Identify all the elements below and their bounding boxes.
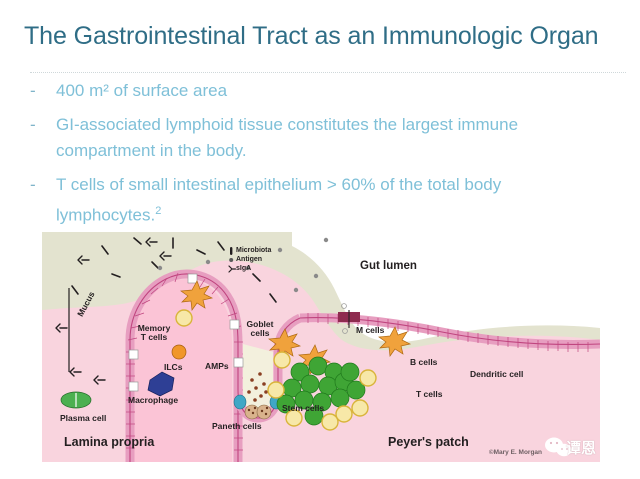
goblet-cell [129, 350, 138, 359]
goblet-cell [129, 382, 138, 391]
label-lamina-propria: Lamina propria [64, 436, 154, 449]
label-goblet-cells-line2: cells [241, 329, 279, 338]
label-macrophage: Macrophage [128, 396, 178, 405]
paneth-cell [257, 405, 271, 419]
antigen-dot-icon [227, 256, 236, 264]
label-dendritic-cell: Dendritic cell [470, 370, 523, 379]
goblet-cell [188, 274, 197, 283]
ilc-cell [172, 345, 186, 359]
plasma-cell-group [61, 392, 91, 408]
label-t-cells: T cells [416, 390, 442, 399]
label-goblet-cells: Goblet cells [241, 320, 279, 338]
label-amps: AMPs [205, 362, 229, 371]
label-peyers-patch: Peyer's patch [388, 436, 469, 449]
legend-item-antigen: Antigen [227, 255, 271, 264]
bullet-marker: - [30, 112, 56, 138]
bullet-marker: - [30, 78, 56, 104]
legend-label: Antigen [236, 256, 262, 263]
bullet-text-main: T cells of small intestinal epithelium >… [56, 175, 501, 225]
label-memory-t-cells-line2: T cells [126, 333, 182, 342]
legend-item-siga: sIgA [227, 264, 271, 273]
legend-label: Microbiota [236, 247, 271, 254]
watermark-text: 谭恩 [566, 437, 596, 458]
label-b-cells: B cells [410, 358, 437, 367]
title-divider [30, 72, 626, 73]
label-memory-t-cells: Memory T cells [126, 324, 182, 342]
legend-item-microbiota: Microbiota [227, 246, 271, 255]
bullet-marker: - [30, 172, 56, 198]
figure-credit: ©Mary E. Morgan [489, 449, 542, 456]
goblet-cell [234, 358, 243, 367]
diagram-artwork [42, 232, 600, 462]
goblet-cell [230, 320, 239, 329]
label-paneth-cells: Paneth cells [212, 422, 262, 431]
siga-y-icon [227, 265, 236, 273]
bullet-text: GI-associated lymphoid tissue constitute… [56, 112, 610, 164]
label-m-cells: M cells [356, 326, 384, 335]
list-item: - GI-associated lymphoid tissue constitu… [30, 112, 610, 164]
bullet-superscript: 2 [155, 205, 161, 217]
microbiota-rod-icon [227, 247, 236, 255]
stem-cell [234, 395, 246, 409]
label-plasma-cell: Plasma cell [60, 414, 106, 423]
label-ilcs: ILCs [164, 363, 182, 372]
label-gut-lumen: Gut lumen [360, 260, 417, 272]
page-title: The Gastrointestinal Tract as an Immunol… [24, 22, 624, 51]
bullet-text: T cells of small intestinal epithelium >… [56, 172, 610, 229]
list-item: - 400 m² of surface area [30, 78, 610, 104]
figure-legend: Microbiota Antigen sIgA [227, 246, 271, 273]
bullet-text: 400 m² of surface area [56, 78, 227, 104]
bullet-list: - 400 m² of surface area - GI-associated… [30, 78, 610, 237]
list-item: - T cells of small intestinal epithelium… [30, 172, 610, 229]
label-stem-cells: Stem cells [282, 404, 324, 413]
crypt-lumen [243, 344, 273, 413]
gut-immunology-diagram: Microbiota Antigen sIgA Gut lumen Mucus … [42, 232, 600, 462]
legend-label: sIgA [236, 265, 251, 272]
